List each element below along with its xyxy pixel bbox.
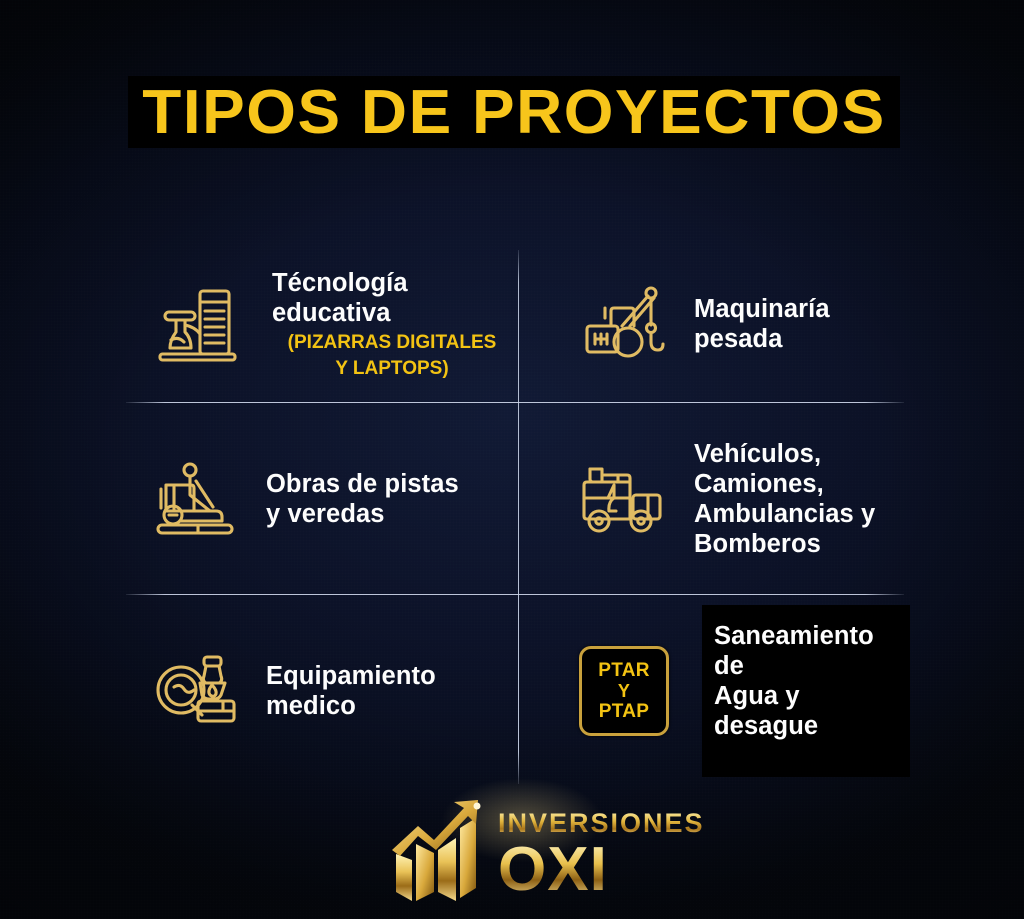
project-line-1: Saneamiento de bbox=[714, 621, 900, 681]
poster-root: TIPOS DE PROYECTOS bbox=[0, 0, 1024, 919]
project-line-2: y veredas bbox=[266, 499, 514, 529]
brand-logo[interactable]: INVERSIONES OXI bbox=[382, 796, 682, 908]
project-item-vehiculos[interactable]: Vehículos, Camiones, Ambulancias y Bombe… bbox=[572, 404, 910, 594]
project-sub-1: (PIZARRAS DIGITALES bbox=[270, 331, 514, 354]
project-line-2: Agua y desague bbox=[714, 681, 900, 741]
project-label-block: Maquinaría pesada bbox=[694, 294, 910, 354]
crane-truck-icon bbox=[572, 272, 676, 376]
ptar-ptap-badge: PTAR Y PTAP bbox=[572, 639, 676, 743]
vertical-divider bbox=[518, 250, 519, 784]
project-line-4: Bomberos bbox=[694, 529, 910, 559]
project-item-maquinaria-pesada[interactable]: Maquinaría pesada bbox=[572, 246, 910, 402]
project-line-1: Técnología bbox=[270, 268, 514, 298]
brand-bottom-word: OXI bbox=[498, 839, 705, 901]
project-line-2: pesada bbox=[694, 324, 910, 354]
project-line-2: medico bbox=[266, 691, 514, 721]
horizontal-divider-2 bbox=[126, 594, 904, 595]
project-line-1: Equipamiento bbox=[266, 661, 514, 691]
project-item-saneamiento[interactable]: PTAR Y PTAP Saneamiento de Agua y desagu… bbox=[572, 596, 910, 786]
brand-top-word: INVERSIONES bbox=[498, 810, 705, 837]
projects-grid: Técnología educativa (PIZARRAS DIGITALES… bbox=[120, 246, 910, 786]
project-line-1: Obras de pistas bbox=[266, 469, 514, 499]
server-building-icon bbox=[144, 272, 248, 376]
project-label-block: Obras de pistas y veredas bbox=[266, 469, 514, 529]
project-label-block: Técnología educativa (PIZARRAS DIGITALES… bbox=[266, 268, 514, 381]
project-line-3: Ambulancias y bbox=[694, 499, 910, 529]
horizontal-divider-1 bbox=[126, 402, 904, 403]
project-label-block: Equipamiento medico bbox=[266, 661, 514, 721]
page-title: TIPOS DE PROYECTOS bbox=[116, 74, 911, 150]
project-line-2: Camiones, bbox=[694, 469, 910, 499]
project-item-tecnologia-educativa[interactable]: Técnología educativa (PIZARRAS DIGITALES… bbox=[144, 246, 514, 402]
brand-wordmark: INVERSIONES OXI bbox=[498, 804, 705, 901]
project-line-1: Vehículos, bbox=[694, 439, 910, 469]
truck-icon bbox=[572, 447, 676, 551]
badge-line-1: PTAR bbox=[598, 660, 650, 681]
project-item-obras-pistas[interactable]: Obras de pistas y veredas bbox=[144, 404, 514, 594]
project-label-block: Saneamiento de Agua y desague bbox=[702, 605, 910, 777]
ptar-ptap-badge-box: PTAR Y PTAP bbox=[579, 646, 669, 736]
badge-line-3: PTAP bbox=[599, 701, 649, 722]
project-line-1: Maquinaría bbox=[694, 294, 910, 324]
badge-line-2: Y bbox=[618, 681, 630, 701]
project-item-equipamiento-medico[interactable]: Equipamiento medico bbox=[144, 596, 514, 786]
medical-equipment-icon bbox=[144, 639, 248, 743]
project-sub-2: Y LAPTOPS) bbox=[270, 357, 514, 380]
project-label-block: Vehículos, Camiones, Ambulancias y Bombe… bbox=[694, 439, 910, 559]
project-line-2: educativa bbox=[270, 298, 514, 328]
gold-growth-arrow-icon bbox=[382, 798, 490, 906]
road-paver-icon bbox=[144, 447, 248, 551]
